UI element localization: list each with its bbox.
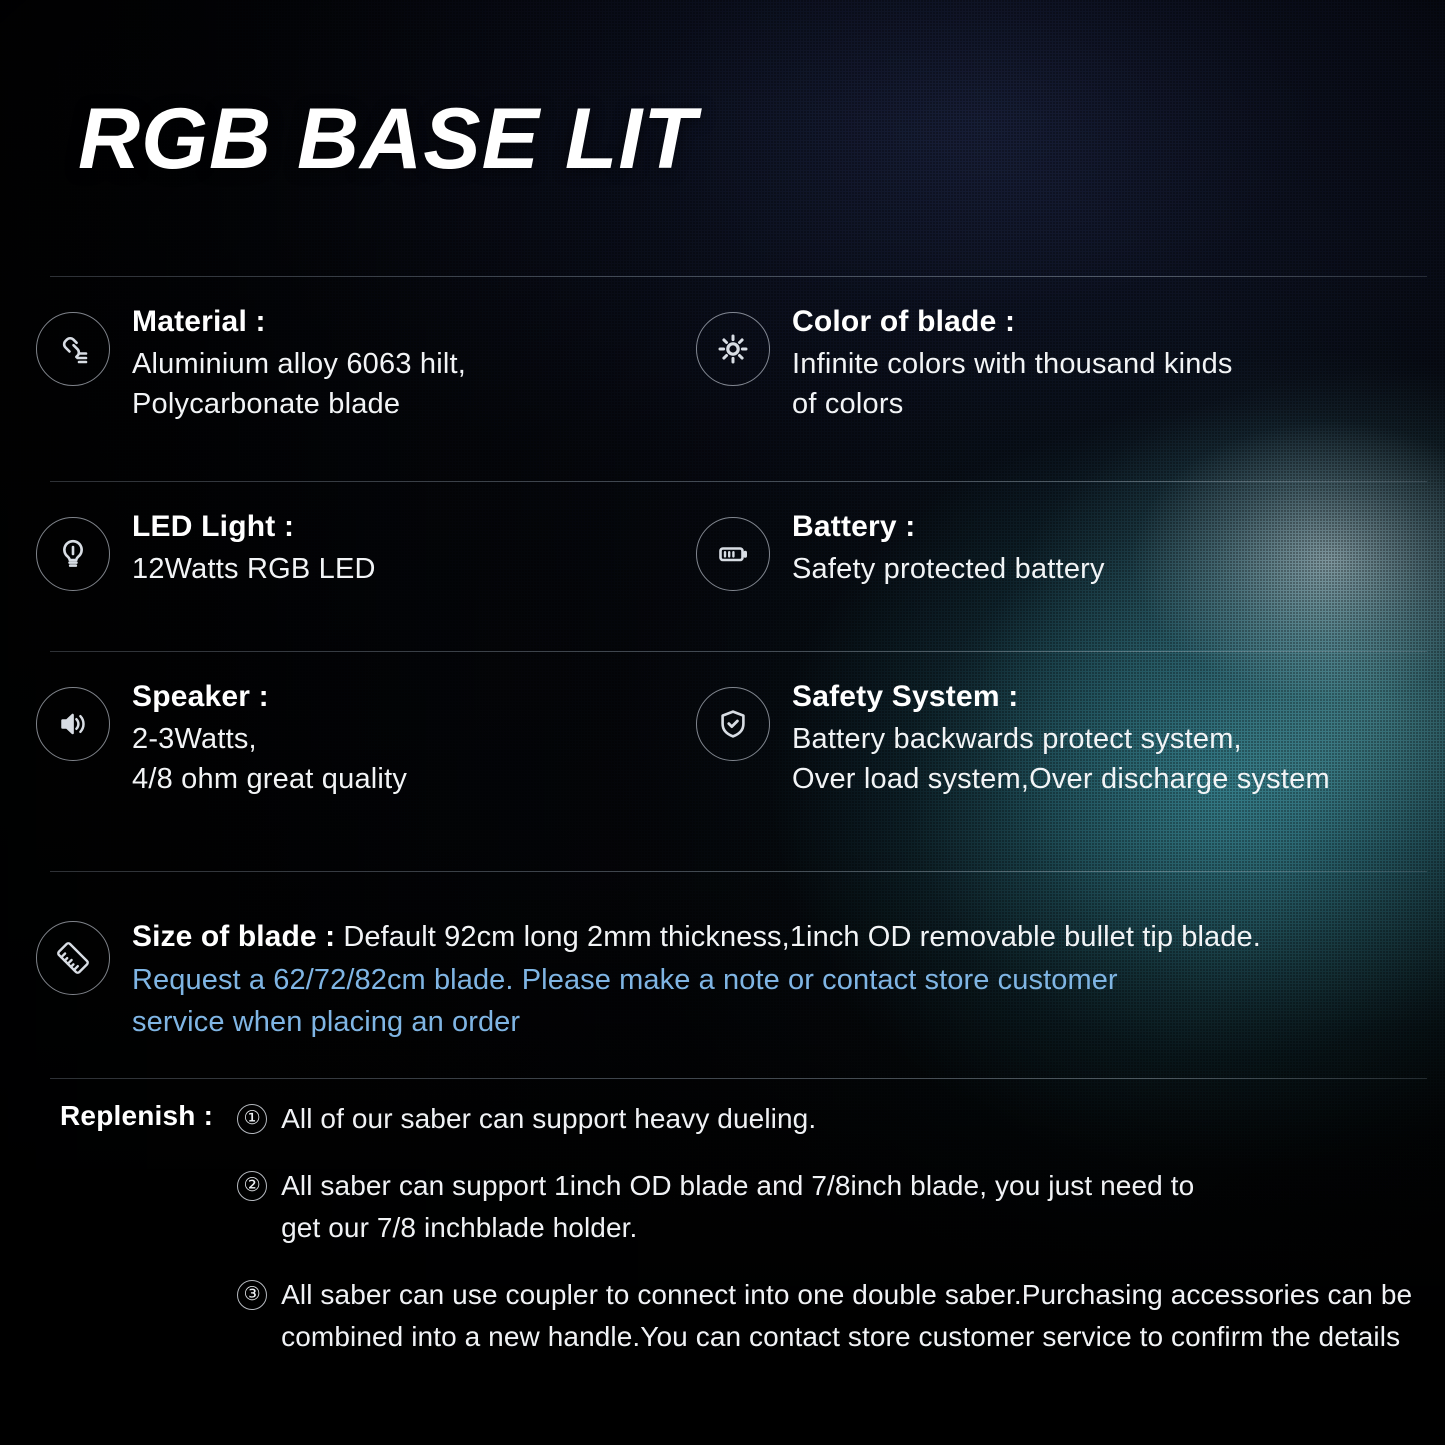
replenish-number-3: ③ [237,1280,267,1310]
size-of-blade-text: Size of blade : Default 92cm long 2mm th… [132,915,1261,1044]
lightbulb-icon [36,517,110,591]
ruler-icon [36,921,110,995]
spec-text-speaker: Speaker : 2-3Watts, 4/8 ohm great qualit… [132,675,407,799]
page-title: RGB BASE LIT [78,96,697,182]
size-of-blade-label: Size of blade : [132,920,335,953]
material-link-icon [36,312,110,386]
spec-item-size-of-blade: Size of blade : Default 92cm long 2mm th… [36,915,1425,1044]
replenish-text-3: All saber can use coupler to connect int… [281,1274,1412,1357]
spec-item-color-of-blade: Color of blade : Infinite colors with th… [668,300,1233,424]
replenish-section: Replenish : ① All of our saber can suppo… [60,1098,1425,1357]
replenish-head-row: Replenish : ① All of our saber can suppo… [60,1098,1425,1357]
battery-icon [696,517,770,591]
shield-check-icon [696,687,770,761]
spec-text-battery: Battery : Safety protected battery [792,505,1105,589]
size-of-blade-note: Request a 62/72/82cm blade. Please make … [132,959,1261,1045]
spec-text-led-light: LED Light : 12Watts RGB LED [132,505,376,589]
spec-item-material: Material : Aluminium alloy 6063 hilt, Po… [0,300,660,424]
spec-label-led-light: LED Light : [132,507,376,547]
spec-value-battery: Safety protected battery [792,549,1105,589]
spec-row-speaker-safety: Speaker : 2-3Watts, 4/8 ohm great qualit… [0,675,1445,875]
spec-item-led-light: LED Light : 12Watts RGB LED [0,505,660,591]
spec-label-speaker: Speaker : [132,677,407,717]
replenish-text-2: All saber can support 1inch OD blade and… [281,1165,1194,1248]
spec-label-battery: Battery : [792,507,1105,547]
spec-text-material: Material : Aluminium alloy 6063 hilt, Po… [132,300,466,424]
spec-value-led-light: 12Watts RGB LED [132,549,376,589]
spec-value-color-of-blade: Infinite colors with thousand kinds of c… [792,344,1233,424]
spec-item-speaker: Speaker : 2-3Watts, 4/8 ohm great qualit… [0,675,660,799]
replenish-number-1: ① [237,1104,267,1134]
brightness-sun-icon [696,312,770,386]
product-spec-poster: RGB BASE LIT [0,0,1445,1445]
divider-1 [50,276,1427,277]
spec-label-material: Material : [132,302,466,342]
replenish-items: ① All of our saber can support heavy due… [231,1098,1425,1357]
spec-value-speaker: 2-3Watts, 4/8 ohm great quality [132,719,407,799]
spec-item-battery: Battery : Safety protected battery [668,505,1105,591]
replenish-text-1: All of our saber can support heavy dueli… [281,1098,816,1139]
list-item: ② All saber can support 1inch OD blade a… [237,1165,1425,1248]
spec-label-safety-system: Safety System : [792,677,1330,717]
size-of-blade-value: Default 92cm long 2mm thickness,1inch OD… [343,921,1261,953]
spec-value-safety-system: Battery backwards protect system, Over l… [792,719,1330,799]
spec-label-color-of-blade: Color of blade : [792,302,1233,342]
spec-row-led-battery: LED Light : 12Watts RGB LED [0,505,1445,670]
divider-2 [50,481,1427,482]
list-item: ① All of our saber can support heavy due… [237,1098,1425,1139]
spec-row-material-color: Material : Aluminium alloy 6063 hilt, Po… [0,300,1445,480]
list-item: ③ All saber can use coupler to connect i… [237,1274,1425,1357]
spec-text-safety-system: Safety System : Battery backwards protec… [792,675,1330,799]
replenish-title: Replenish : [60,1098,213,1132]
divider-5 [50,1078,1427,1079]
poster-content: RGB BASE LIT [0,0,1445,1445]
replenish-number-2: ② [237,1171,267,1201]
spec-item-safety-system: Safety System : Battery backwards protec… [668,675,1330,799]
speaker-icon [36,687,110,761]
spec-value-material: Aluminium alloy 6063 hilt, Polycarbonate… [132,344,466,424]
size-of-blade-main-line: Size of blade : Default 92cm long 2mm th… [132,915,1261,959]
spec-text-color-of-blade: Color of blade : Infinite colors with th… [792,300,1233,424]
